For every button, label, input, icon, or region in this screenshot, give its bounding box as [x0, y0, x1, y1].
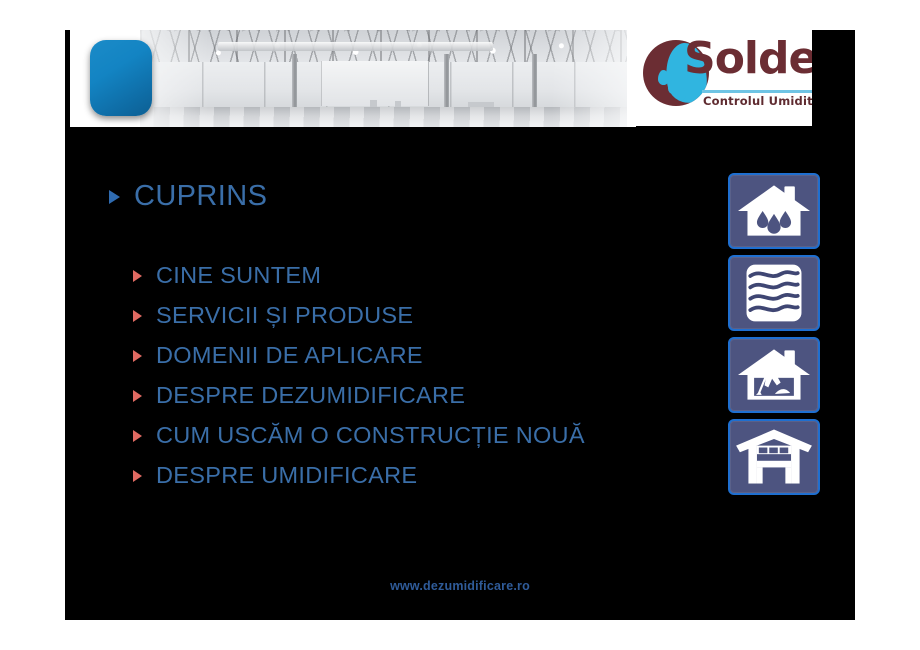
icon-strip	[728, 173, 820, 495]
list-item-label: CINE SUNTEM	[156, 262, 321, 289]
water-waves-icon[interactable]	[728, 255, 820, 331]
list-item[interactable]: DESPRE UMIDIFICARE	[133, 462, 585, 489]
logo-wordmark: Soldec	[684, 37, 812, 81]
list-item[interactable]: CUM USCĂM O CONSTRUCȚIE NOUĂ	[133, 422, 585, 449]
list-item-label: DESPRE DEZUMIDIFICARE	[156, 382, 465, 409]
house-under-construction-glyph	[730, 339, 818, 411]
page-canvas: Soldec Controlul Umiditatii CUPRINS CINE…	[0, 0, 920, 650]
house-under-construction-icon[interactable]	[728, 337, 820, 413]
slide-title: CUPRINS	[109, 180, 267, 213]
list-item-label: SERVICII ȘI PRODUSE	[156, 302, 413, 329]
warehouse-hangar-icon[interactable]	[728, 419, 820, 495]
photo-edge-fade	[140, 30, 630, 127]
logo-droplet-toe	[677, 88, 686, 100]
list-item-label: CUM USCĂM O CONSTRUCȚIE NOUĂ	[156, 422, 585, 449]
logo-tagline: Controlul Umiditatii	[703, 94, 812, 108]
logo-divider-rule	[702, 90, 812, 93]
triangle-bullet-icon	[133, 390, 142, 402]
list-item[interactable]: CINE SUNTEM	[133, 262, 585, 289]
agenda-list: CINE SUNTEM SERVICII ȘI PRODUSE DOMENII …	[133, 262, 585, 489]
list-item[interactable]: DESPRE DEZUMIDIFICARE	[133, 382, 585, 409]
house-with-water-drops-glyph	[730, 175, 818, 247]
list-item[interactable]: SERVICII ȘI PRODUSE	[133, 302, 585, 329]
water-waves-glyph	[730, 257, 818, 329]
triangle-bullet-icon	[109, 190, 120, 204]
header-white-margin-right	[627, 30, 636, 127]
slide-header-band: Soldec Controlul Umiditatii	[65, 30, 855, 127]
page-title: CUPRINS	[134, 180, 267, 213]
logo-droplet-toe	[658, 70, 669, 85]
blue-rounded-tile	[90, 40, 152, 116]
list-item-label: DESPRE UMIDIFICARE	[156, 462, 417, 489]
list-item-label: DOMENII DE APLICARE	[156, 342, 423, 369]
triangle-bullet-icon	[133, 310, 142, 322]
warehouse-interior-photo	[140, 30, 630, 127]
warehouse-hangar-glyph	[730, 421, 818, 493]
triangle-bullet-icon	[133, 470, 142, 482]
triangle-bullet-icon	[133, 350, 142, 362]
footer-website-url[interactable]: www.dezumidificare.ro	[65, 579, 855, 593]
soldec-logo: Soldec Controlul Umiditatii	[636, 30, 812, 126]
presentation-slide: Soldec Controlul Umiditatii CUPRINS CINE…	[65, 30, 855, 620]
triangle-bullet-icon	[133, 270, 142, 282]
list-item[interactable]: DOMENII DE APLICARE	[133, 342, 585, 369]
house-with-water-drops-icon[interactable]	[728, 173, 820, 249]
triangle-bullet-icon	[133, 430, 142, 442]
